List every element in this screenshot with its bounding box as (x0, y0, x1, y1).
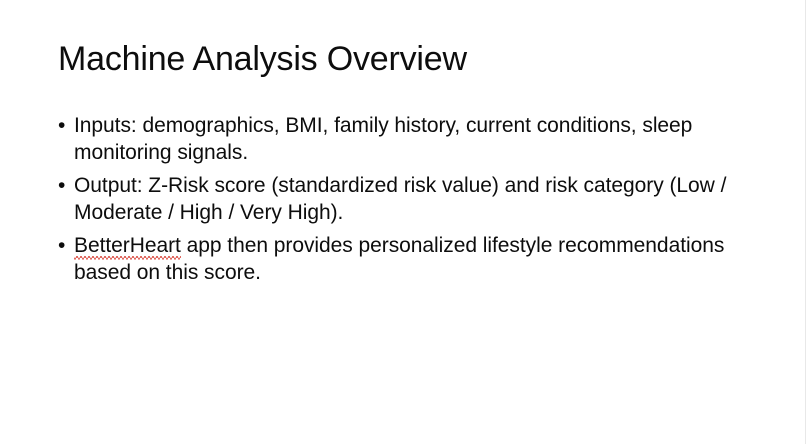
list-item-text-inputs: Inputs: demographics, BMI, family histor… (74, 112, 748, 166)
bullet-icon: • (58, 172, 65, 199)
list-item: • BetterHeart app then provides personal… (58, 232, 748, 286)
page-title: Machine Analysis Overview (58, 38, 467, 80)
slide-canvas: Machine Analysis Overview • Inputs: demo… (0, 0, 806, 444)
list-item-text-betterheart: BetterHeart app then provides personaliz… (74, 232, 748, 286)
bullet-icon: • (58, 112, 65, 139)
list-item-text-output: Output: Z-Risk score (standardized risk … (74, 172, 748, 226)
list-item: • Inputs: demographics, BMI, family hist… (58, 112, 748, 166)
bullet-list: • Inputs: demographics, BMI, family hist… (58, 112, 748, 286)
bullet-icon: • (58, 232, 65, 259)
list-item: • Output: Z-Risk score (standardized ris… (58, 172, 748, 226)
misspelled-word-betterheart[interactable]: BetterHeart (74, 232, 181, 259)
